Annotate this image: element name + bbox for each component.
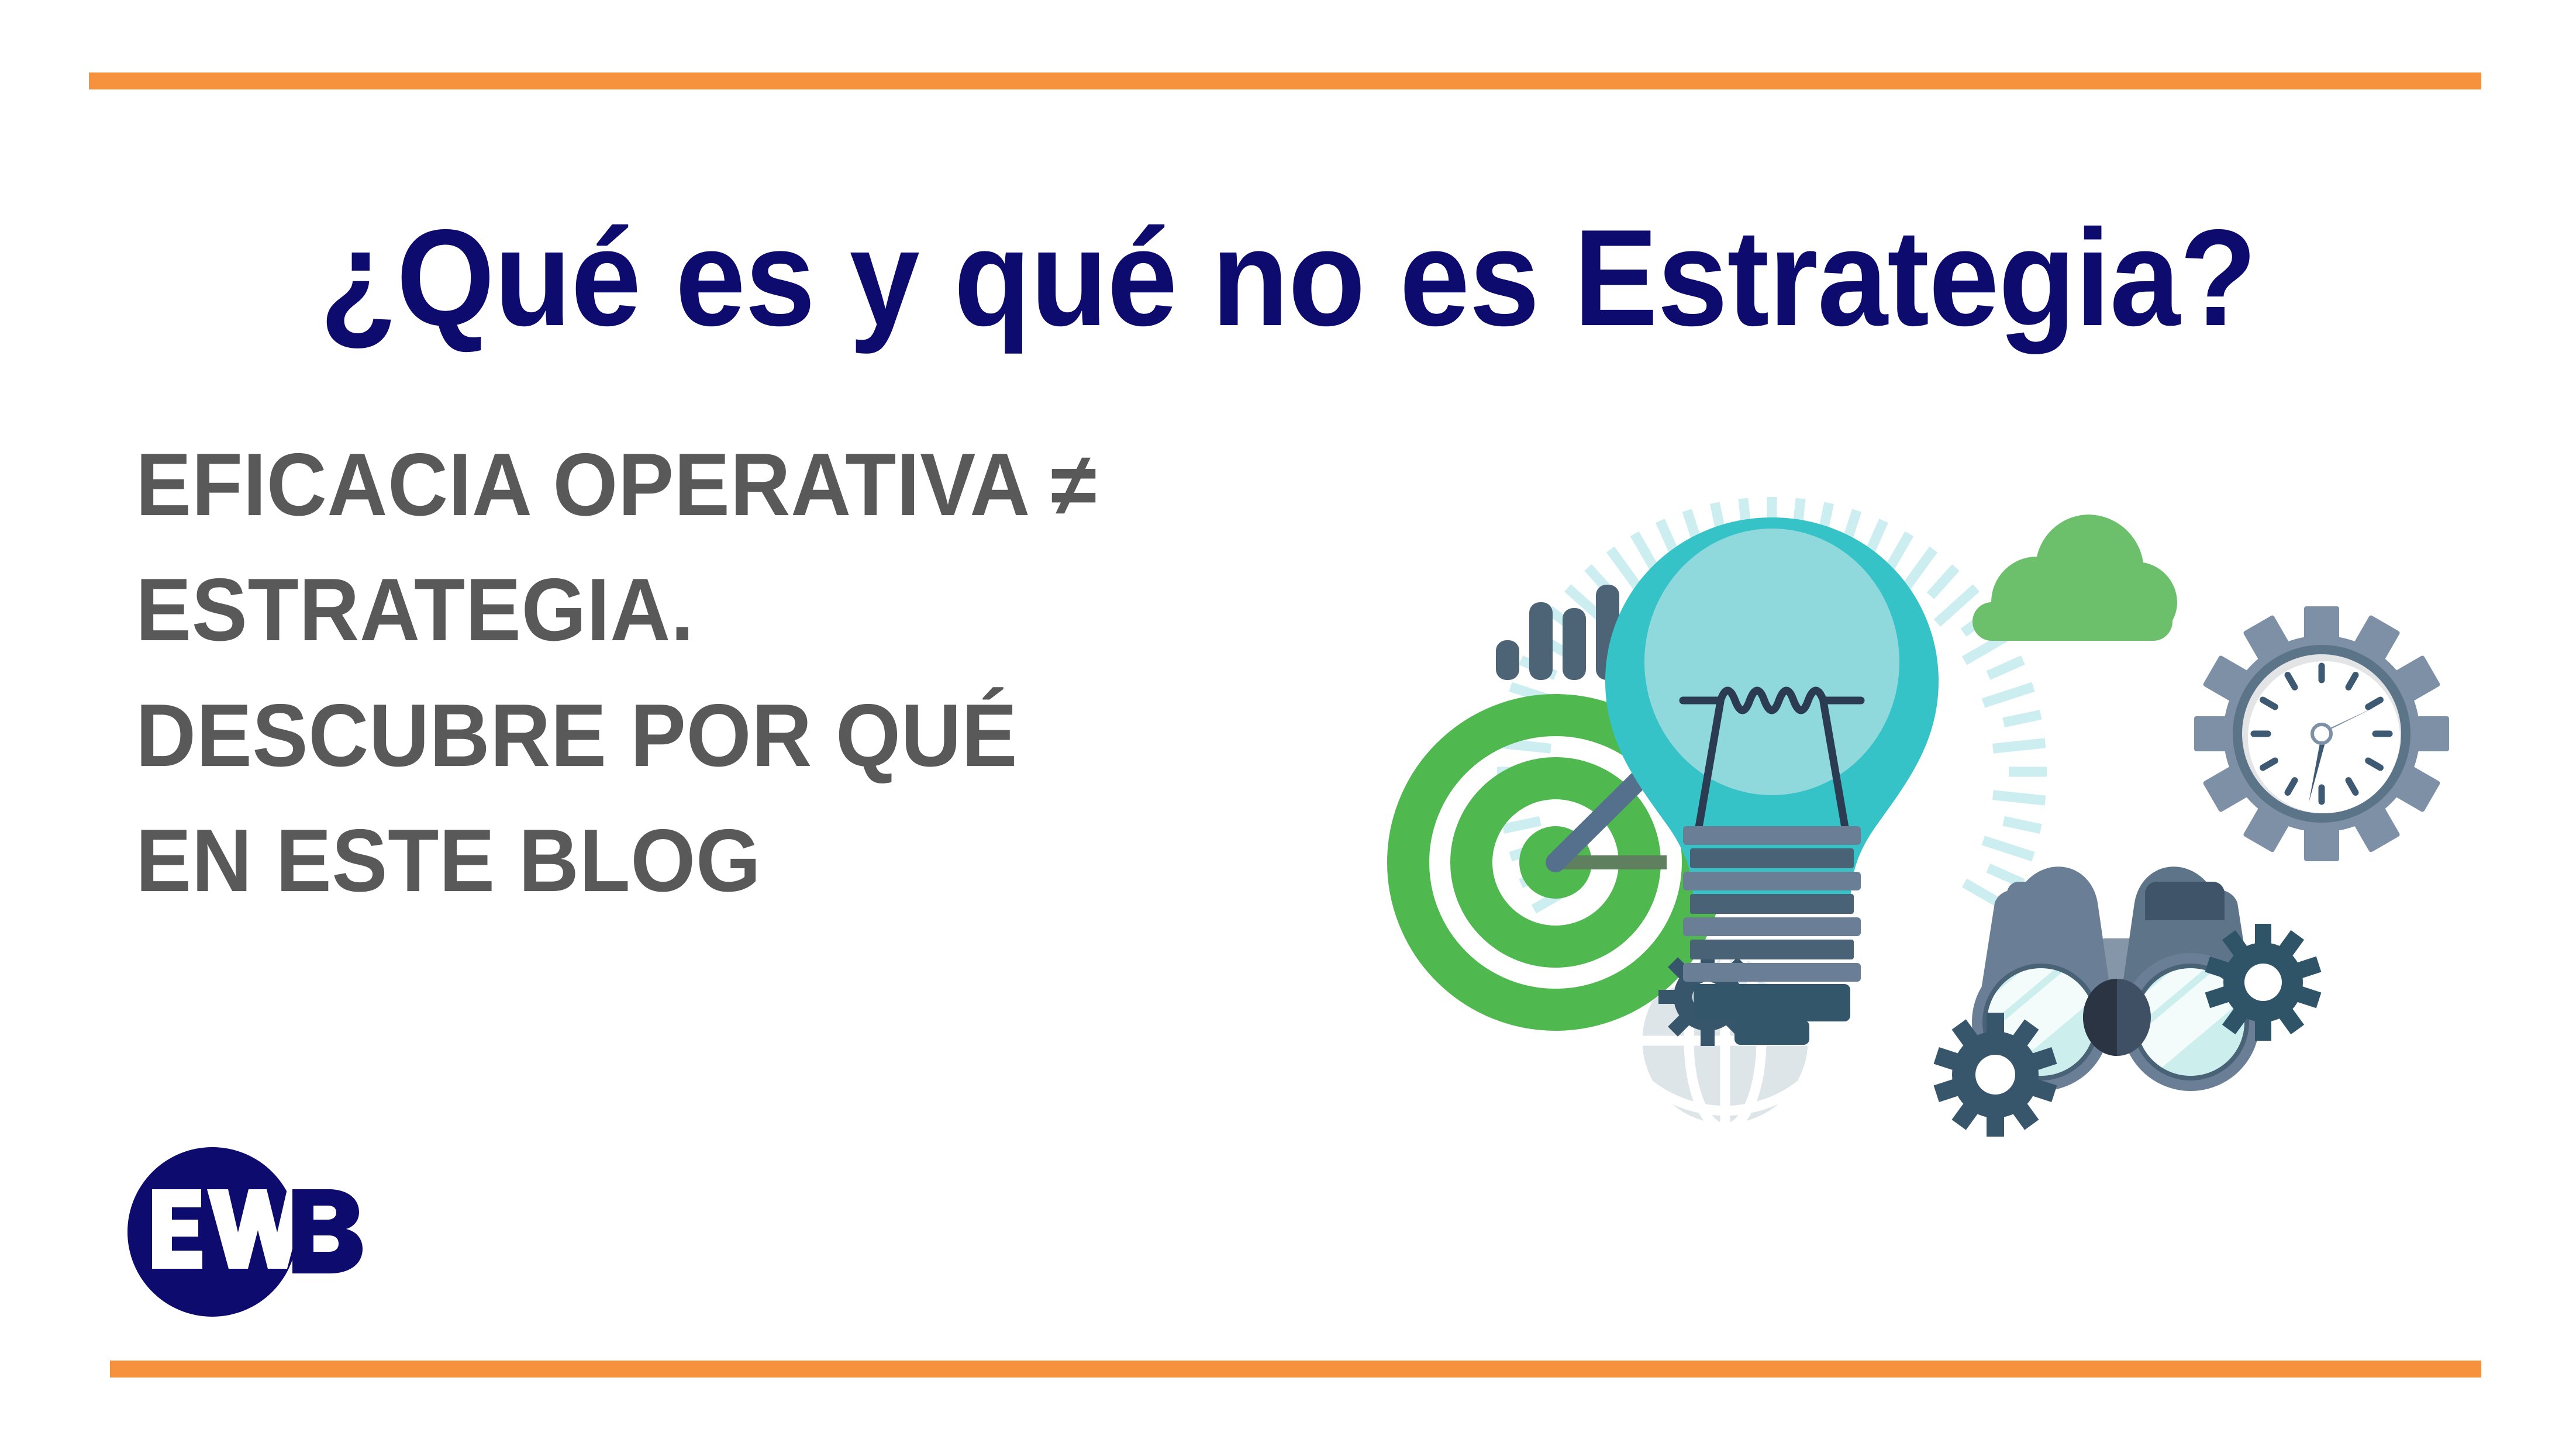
body-line-4: EN ESTE BLOG xyxy=(136,798,1373,923)
ewb-logo xyxy=(127,1147,408,1317)
bar-chart-icon xyxy=(1496,585,1619,680)
logo-initial-b xyxy=(292,1189,363,1273)
cloud-icon xyxy=(1972,515,2177,641)
clock-gear-icon xyxy=(2194,606,2449,861)
logo-initials-ew xyxy=(152,1189,308,1269)
body-line-1: EFICACIA OPERATIVA ≠ xyxy=(136,422,1373,547)
slide-canvas: ¿Qué es y qué no es Estrategia? EFICACIA… xyxy=(0,0,2576,1450)
body-line-3: DESCUBRE POR QUÉ xyxy=(136,673,1373,798)
page-title: ¿Qué es y qué no es Estrategia? xyxy=(103,209,2473,346)
bulb-base xyxy=(1683,826,1861,1045)
top-accent-bar xyxy=(89,72,2481,89)
body-copy: EFICACIA OPERATIVA ≠ ESTRATEGIA. DESCUBR… xyxy=(136,422,1373,923)
strategy-illustration xyxy=(1363,409,2556,1169)
bottom-accent-bar xyxy=(110,1361,2481,1377)
body-line-2: ESTRATEGIA. xyxy=(136,547,1373,672)
